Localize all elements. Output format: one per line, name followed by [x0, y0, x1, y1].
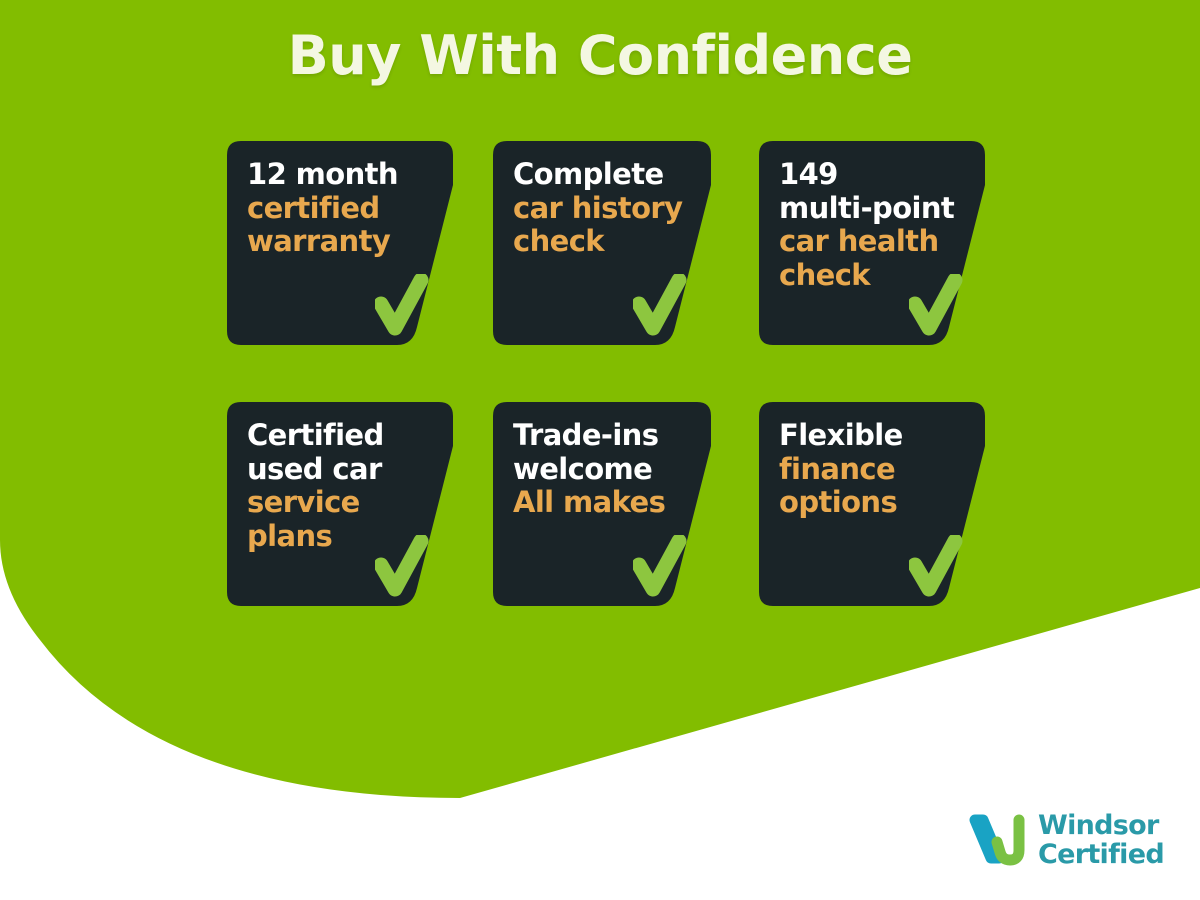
card-line: certified [247, 192, 419, 226]
feature-card-row-1: 12 month certified warranty Complete car… [227, 141, 987, 345]
feature-card-finance-options[interactable]: Flexible finance options [759, 402, 985, 606]
card-text: 149 multi-point car health check [779, 158, 951, 293]
feature-card-service-plans[interactable]: Certified used car service plans [227, 402, 453, 606]
card-line: finance [779, 453, 951, 487]
card-line: check [513, 225, 685, 259]
logo-line-1: Windsor [1038, 812, 1164, 841]
card-line: 12 month [247, 158, 419, 192]
card-text: Certified used car service plans [247, 419, 419, 554]
card-line: Complete [513, 158, 685, 192]
check-icon [375, 274, 429, 336]
feature-card-car-history-check[interactable]: Complete car history check [493, 141, 719, 345]
card-text: Trade-ins welcome All makes [513, 419, 685, 520]
card-line: warranty [247, 225, 419, 259]
card-line: car health [779, 225, 951, 259]
card-text: 12 month certified warranty [247, 158, 419, 259]
card-line: 149 [779, 158, 951, 192]
windsor-w-icon [966, 810, 1028, 872]
feature-card-car-health-check[interactable]: 149 multi-point car health check [759, 141, 985, 345]
check-icon [633, 535, 687, 597]
page-title: Buy With Confidence [0, 24, 1200, 87]
card-line: Certified [247, 419, 419, 453]
check-icon [909, 535, 963, 597]
feature-card-trade-ins[interactable]: Trade-ins welcome All makes [493, 402, 719, 606]
card-line: Trade-ins [513, 419, 685, 453]
card-line: plans [247, 520, 419, 554]
card-line: welcome [513, 453, 685, 487]
card-line: Flexible [779, 419, 951, 453]
feature-card-certified-warranty[interactable]: 12 month certified warranty [227, 141, 453, 345]
card-text: Complete car history check [513, 158, 685, 259]
card-line: options [779, 486, 951, 520]
windsor-certified-logo[interactable]: Windsor Certified [966, 810, 1164, 872]
logo-line-2: Certified [1038, 841, 1164, 870]
card-text: Flexible finance options [779, 419, 951, 520]
logo-wordmark: Windsor Certified [1038, 812, 1164, 869]
check-icon [633, 274, 687, 336]
poster: Buy With Confidence 12 month certified w… [0, 0, 1200, 900]
card-line: check [779, 259, 951, 293]
card-line: All makes [513, 486, 685, 520]
feature-card-row-2: Certified used car service plans Trade-i… [227, 402, 987, 606]
card-line: multi-point [779, 192, 951, 226]
card-line: car history [513, 192, 685, 226]
card-line: service [247, 486, 419, 520]
card-line: used car [247, 453, 419, 487]
feature-card-grid: 12 month certified warranty Complete car… [227, 141, 987, 663]
